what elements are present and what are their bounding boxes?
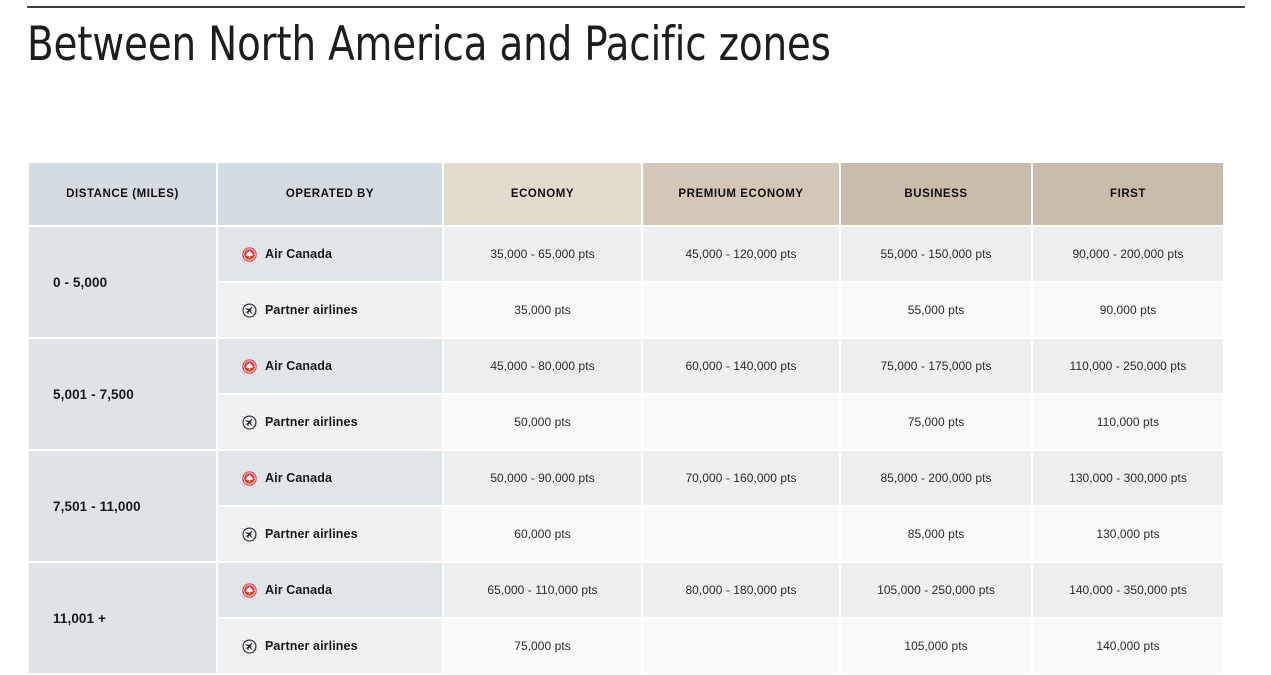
carrier-label-air-canada: Air Canada <box>265 359 332 373</box>
value-cell-business: 105,000 - 250,000 pts <box>841 563 1031 617</box>
value-cell-first: 130,000 - 300,000 pts <box>1033 451 1223 505</box>
partner-airplane-icon <box>242 527 257 542</box>
distance-range-cell: 7,501 - 11,000 <box>29 451 216 561</box>
operated-by-cell-air-canada: Air Canada <box>218 339 442 393</box>
operated-by-cell-partner: Partner airlines <box>218 395 442 449</box>
table-row: 0 - 5,000 Air Canada 35,000 - 65,000 pts… <box>29 227 1223 281</box>
value-cell-business: 55,000 - 150,000 pts <box>841 227 1031 281</box>
value-cell-first: 140,000 pts <box>1033 619 1223 673</box>
carrier-label-partner: Partner airlines <box>265 639 358 653</box>
value-cell-premium-economy: 70,000 - 160,000 pts <box>643 451 839 505</box>
value-cell-first: 130,000 pts <box>1033 507 1223 561</box>
value-cell-first: 140,000 - 350,000 pts <box>1033 563 1223 617</box>
value-cell-business: 85,000 - 200,000 pts <box>841 451 1031 505</box>
column-header-economy: ECONOMY <box>444 163 641 225</box>
carrier-label-air-canada: Air Canada <box>265 247 332 261</box>
carrier-label-air-canada: Air Canada <box>265 583 332 597</box>
carrier-label-partner: Partner airlines <box>265 527 358 541</box>
table-row: 7,501 - 11,000 Air Canada 50,000 - 90,00… <box>29 451 1223 505</box>
value-cell-premium-economy <box>643 619 839 673</box>
operated-by-cell-partner: Partner airlines <box>218 507 442 561</box>
air-canada-maple-leaf-icon <box>242 247 257 262</box>
value-cell-premium-economy: 45,000 - 120,000 pts <box>643 227 839 281</box>
value-cell-first: 110,000 pts <box>1033 395 1223 449</box>
value-cell-business: 85,000 pts <box>841 507 1031 561</box>
operated-by-cell-air-canada: Air Canada <box>218 451 442 505</box>
value-cell-economy: 65,000 - 110,000 pts <box>444 563 641 617</box>
column-header-first: FIRST <box>1033 163 1223 225</box>
operated-by-cell-partner: Partner airlines <box>218 283 442 337</box>
partner-airplane-icon <box>242 639 257 654</box>
partner-airplane-icon <box>242 415 257 430</box>
column-header-premium-economy: PREMIUM ECONOMY <box>643 163 839 225</box>
distance-range-cell: 0 - 5,000 <box>29 227 216 337</box>
value-cell-economy: 60,000 pts <box>444 507 641 561</box>
value-cell-economy: 75,000 pts <box>444 619 641 673</box>
points-rate-table: DISTANCE (MILES) OPERATED BY ECONOMY PRE… <box>27 161 1225 675</box>
value-cell-first: 90,000 - 200,000 pts <box>1033 227 1223 281</box>
value-cell-economy: 35,000 - 65,000 pts <box>444 227 641 281</box>
value-cell-economy: 50,000 pts <box>444 395 641 449</box>
air-canada-maple-leaf-icon <box>242 583 257 598</box>
column-header-operated-by: OPERATED BY <box>218 163 442 225</box>
distance-range-cell: 5,001 - 7,500 <box>29 339 216 449</box>
top-divider-rule <box>27 6 1245 8</box>
value-cell-business: 55,000 pts <box>841 283 1031 337</box>
value-cell-business: 75,000 pts <box>841 395 1031 449</box>
table-header: DISTANCE (MILES) OPERATED BY ECONOMY PRE… <box>29 163 1223 225</box>
value-cell-economy: 45,000 - 80,000 pts <box>444 339 641 393</box>
value-cell-premium-economy <box>643 507 839 561</box>
operated-by-cell-partner: Partner airlines <box>218 619 442 673</box>
value-cell-economy: 35,000 pts <box>444 283 641 337</box>
air-canada-maple-leaf-icon <box>242 471 257 486</box>
table-row: 5,001 - 7,500 Air Canada 45,000 - 80,000… <box>29 339 1223 393</box>
partner-airplane-icon <box>242 303 257 318</box>
operated-by-cell-air-canada: Air Canada <box>218 227 442 281</box>
value-cell-business: 105,000 pts <box>841 619 1031 673</box>
table-row: 11,001 + Air Canada 65,000 - 110,000 pts… <box>29 563 1223 617</box>
column-header-distance: DISTANCE (MILES) <box>29 163 216 225</box>
operated-by-cell-air-canada: Air Canada <box>218 563 442 617</box>
value-cell-premium-economy <box>643 395 839 449</box>
carrier-label-partner: Partner airlines <box>265 415 358 429</box>
carrier-label-air-canada: Air Canada <box>265 471 332 485</box>
distance-range-cell: 11,001 + <box>29 563 216 673</box>
air-canada-maple-leaf-icon <box>242 359 257 374</box>
column-header-business: BUSINESS <box>841 163 1031 225</box>
table-header-row: DISTANCE (MILES) OPERATED BY ECONOMY PRE… <box>29 163 1223 225</box>
value-cell-first: 110,000 - 250,000 pts <box>1033 339 1223 393</box>
table-body: 0 - 5,000 Air Canada 35,000 - 65,000 pts… <box>29 227 1223 673</box>
page-root: Between North America and Pacific zones … <box>0 0 1271 675</box>
value-cell-first: 90,000 pts <box>1033 283 1223 337</box>
value-cell-premium-economy: 80,000 - 180,000 pts <box>643 563 839 617</box>
value-cell-business: 75,000 - 175,000 pts <box>841 339 1031 393</box>
value-cell-economy: 50,000 - 90,000 pts <box>444 451 641 505</box>
carrier-label-partner: Partner airlines <box>265 303 358 317</box>
value-cell-premium-economy <box>643 283 839 337</box>
value-cell-premium-economy: 60,000 - 140,000 pts <box>643 339 839 393</box>
page-title: Between North America and Pacific zones <box>27 16 1131 75</box>
